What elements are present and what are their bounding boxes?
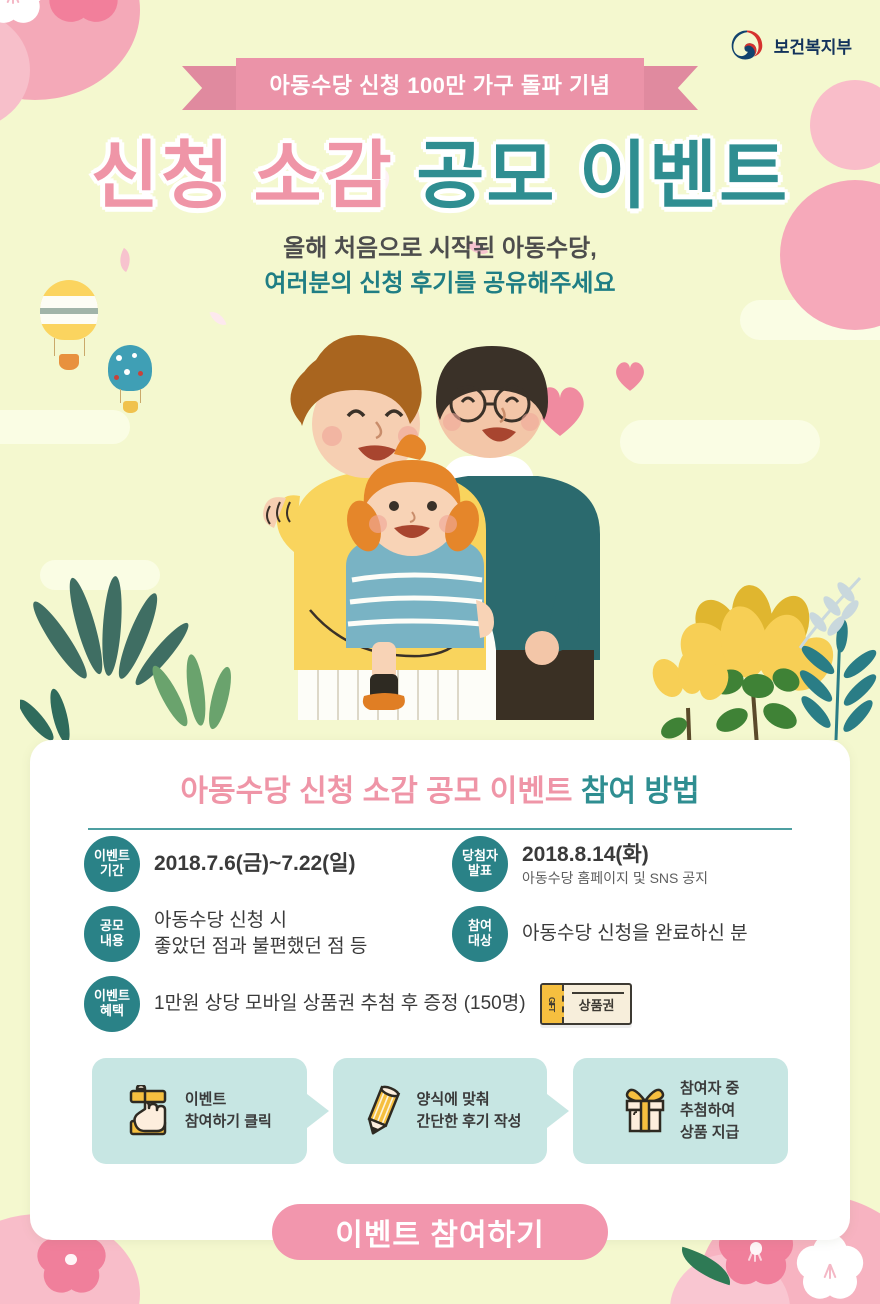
step-1-click[interactable]: 이벤트 참여하기 클릭 (92, 1058, 307, 1164)
step-2-write[interactable]: 양식에 맞춰 간단한 후기 작성 (333, 1058, 548, 1164)
title-part-teal: 공모 이벤트 (416, 134, 789, 217)
badge-event-period: 이벤트 기간 (84, 836, 140, 892)
info-text: 2018.7.6(금)~7.22(일) (154, 850, 356, 877)
info-item-contest-content: 공모 내용 아동수당 신청 시 좋았던 점과 불편했던 점 등 (84, 906, 452, 962)
info-row: 이벤트 기간 2018.7.6(금)~7.22(일) 당첨자 발표 2018.8… (84, 836, 810, 892)
badge-eligibility: 참여 대상 (452, 906, 508, 962)
subtitle-line-1: 올해 처음으로 시작된 아동수당, (0, 232, 880, 267)
badge-line-2: 대상 (468, 934, 492, 949)
step-1-label: 이벤트 참여하기 클릭 (185, 1089, 272, 1133)
winner-date-value: 2018.8.14(화) (522, 841, 708, 868)
badge-line-1: 공모 (100, 919, 124, 934)
ministry-name: 보건복지부 (774, 33, 852, 58)
gift-voucher-icon: GIFT 상품권 (540, 983, 632, 1025)
blossom-icon (40, 0, 126, 26)
pencil-icon (359, 1085, 405, 1137)
step-3-line-3: 상품 지급 (680, 1122, 739, 1144)
card-title: 아동수당 신청 소감 공모 이벤트 참여 방법 (30, 766, 850, 810)
ribbon-body: 아동수당 신청 100만 가구 돌파 기념 (236, 58, 644, 110)
step-2-line-2: 간단한 후기 작성 (417, 1111, 522, 1133)
badge-benefit: 이벤트 혜택 (84, 976, 140, 1032)
card-title-pink: 아동수당 신청 소감 공모 이벤트 (180, 775, 572, 808)
ribbon-banner: 아동수당 신청 100만 가구 돌파 기념 (0, 58, 880, 110)
badge-winner-announcement: 당첨자 발표 (452, 836, 508, 892)
sprig-decoration (790, 570, 870, 650)
info-row: 이벤트 혜택 1만원 상당 모바일 상품권 추첨 후 증정 (150명) GIF… (84, 976, 810, 1032)
step-3-line-1: 참여자 중 (680, 1078, 739, 1100)
ribbon-text: 아동수당 신청 100만 가구 돌파 기념 (270, 68, 611, 100)
info-row: 공모 내용 아동수당 신청 시 좋았던 점과 불편했던 점 등 참여 대상 아동… (84, 906, 810, 962)
gift-box-icon (622, 1085, 668, 1137)
blossom-icon (0, 0, 46, 26)
subtitle-line-2: 여러분의 신청 후기를 공유해주세요 (0, 267, 880, 302)
card-divider (88, 828, 792, 830)
steps-row: 이벤트 참여하기 클릭 양식에 맞춰 간단한 후기 작성 (92, 1058, 788, 1164)
eligibility-value: 아동수당 신청을 완료하신 분 (522, 921, 748, 947)
badge-line-1: 이벤트 (94, 989, 130, 1004)
foliage-right (640, 560, 880, 760)
badge-line-2: 발표 (468, 864, 492, 879)
info-text: 1만원 상당 모바일 상품권 추첨 후 증정 (150명) (154, 991, 526, 1017)
step-3-prize[interactable]: 참여자 중 추첨하여 상품 지급 (573, 1058, 788, 1164)
info-item-benefit: 이벤트 혜택 1만원 상당 모바일 상품권 추첨 후 증정 (150명) GIF… (84, 976, 810, 1032)
step-2-line-1: 양식에 맞춰 (417, 1089, 522, 1111)
title-part-pink: 신청 소감 (91, 134, 394, 217)
info-text: 아동수당 신청을 완료하신 분 (522, 921, 748, 947)
taegeuk-icon (730, 28, 764, 62)
contest-content-line-1: 아동수당 신청 시 (154, 908, 367, 934)
step-3-label: 참여자 중 추첨하여 상품 지급 (680, 1078, 739, 1143)
subtitle: 올해 처음으로 시작된 아동수당, 여러분의 신청 후기를 공유해주세요 (0, 232, 880, 302)
step-1-line-2: 참여하기 클릭 (185, 1111, 272, 1133)
step-1-line-1: 이벤트 (185, 1089, 272, 1111)
click-hand-icon (127, 1085, 173, 1137)
winner-date-note: 아동수당 홈페이지 및 SNS 공지 (522, 869, 708, 887)
badge-line-2: 혜택 (100, 1004, 124, 1019)
badge-line-1: 당첨자 (462, 849, 498, 864)
blossom-icon (796, 1234, 864, 1302)
step-3-line-2: 추첨하여 (680, 1100, 739, 1122)
voucher-tab: GIFT (542, 985, 564, 1023)
info-text: 아동수당 신청 시 좋았던 점과 불편했던 점 등 (154, 908, 367, 959)
family-illustration (190, 330, 670, 750)
info-item-winner-announcement: 당첨자 발표 2018.8.14(화) 아동수당 홈페이지 및 SNS 공지 (452, 836, 810, 892)
contest-content-line-2: 좋았던 점과 불편했던 점 등 (154, 934, 367, 960)
info-item-eligibility: 참여 대상 아동수당 신청을 완료하신 분 (452, 906, 810, 962)
info-item-event-period: 이벤트 기간 2018.7.6(금)~7.22(일) (84, 836, 452, 892)
cloud-decoration-left (0, 410, 130, 444)
event-period-value: 2018.7.6(금)~7.22(일) (154, 850, 356, 877)
badge-line-2: 기간 (100, 864, 124, 879)
info-grid: 이벤트 기간 2018.7.6(금)~7.22(일) 당첨자 발표 2018.8… (84, 836, 810, 1046)
step-2-label: 양식에 맞춰 간단한 후기 작성 (417, 1089, 522, 1133)
card-title-teal: 참여 방법 (581, 775, 700, 808)
badge-line-1: 이벤트 (94, 849, 130, 864)
page-title: 신청 소감 공모 이벤트 (0, 116, 880, 223)
badge-contest-content: 공모 내용 (84, 906, 140, 962)
join-event-button[interactable]: 이벤트 참여하기 (272, 1204, 608, 1260)
cloud-decoration-bottom (40, 560, 160, 590)
petal-icon (209, 308, 226, 328)
badge-line-1: 참여 (468, 919, 492, 934)
event-poster: 보건복지부 아동수당 신청 100만 가구 돌파 기념 신청 소감 공모 이벤트… (0, 0, 880, 1304)
voucher-label: 상품권 (564, 995, 630, 1014)
leaf-icon (676, 1247, 736, 1286)
hot-air-balloon-teal (108, 345, 152, 415)
cloud-decoration-right (740, 300, 880, 340)
voucher-tab-text: GIFT (547, 997, 556, 1011)
ministry-logo: 보건복지부 (730, 28, 852, 62)
badge-line-2: 내용 (100, 934, 124, 949)
info-card: 아동수당 신청 소감 공모 이벤트 참여 방법 이벤트 기간 2018.7.6(… (30, 740, 850, 1240)
benefit-value: 1만원 상당 모바일 상품권 추첨 후 증정 (150명) (154, 991, 526, 1017)
info-text: 2018.8.14(화) 아동수당 홈페이지 및 SNS 공지 (522, 841, 708, 886)
